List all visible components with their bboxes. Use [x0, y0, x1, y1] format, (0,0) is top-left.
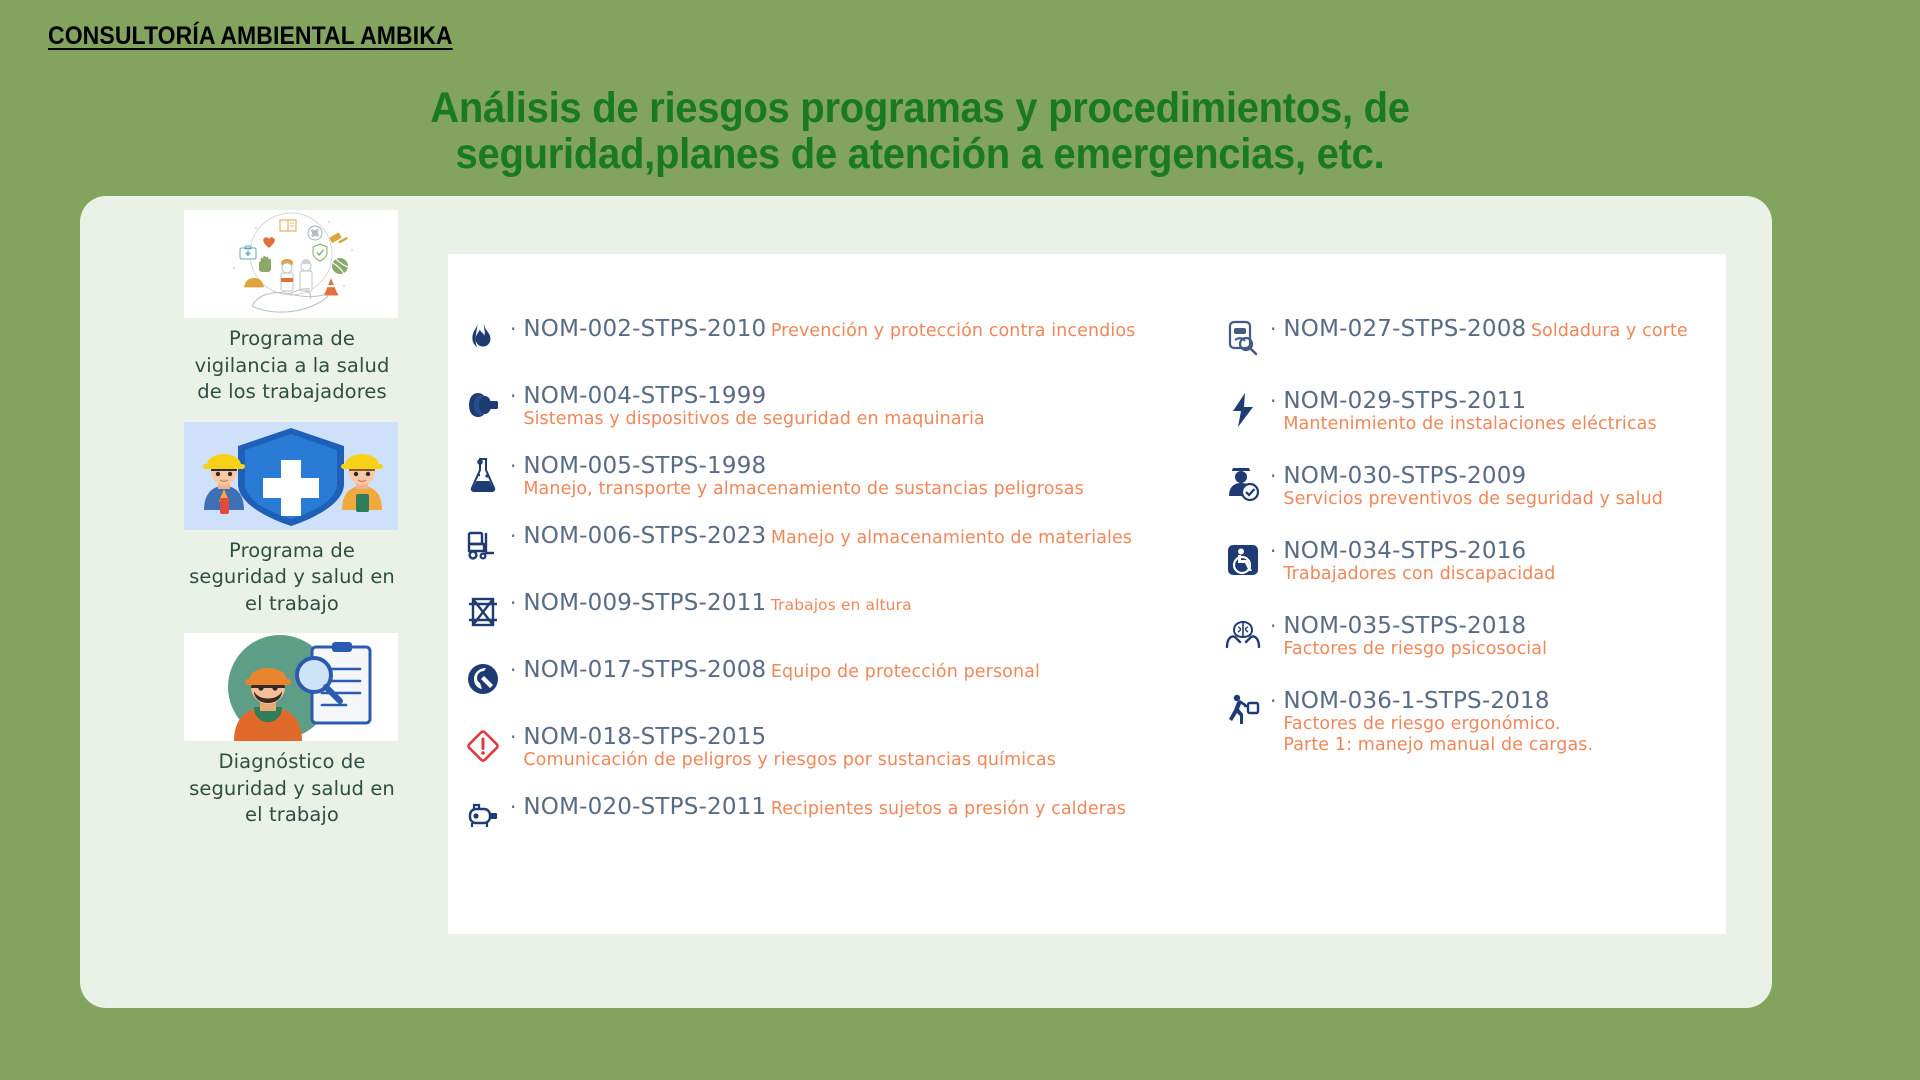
nom-text: NOM-029-STPS-2011 Mantenimiento de insta… — [1283, 388, 1726, 435]
workplace-safety-circle-illustration — [184, 210, 398, 318]
nom-item[interactable]: · NOM-027-STPS-2008 Soldadura y corte — [1220, 316, 1726, 360]
nom-right-column: · NOM-027-STPS-2008 Soldadura y corte · … — [1220, 254, 1726, 934]
nom-list-panel: · NOM-002-STPS-2010 Prevención y protecc… — [448, 254, 1726, 934]
nom-description: Sistemas y dispositivos de seguridad en … — [523, 409, 984, 429]
nom-code: NOM-017-STPS-2008 — [523, 657, 766, 683]
nom-code: NOM-036-1-STPS-2018 — [1283, 688, 1549, 714]
nom-item[interactable]: · NOM-036-1-STPS-2018 Factores de riesgo… — [1220, 688, 1726, 756]
nom-text: NOM-017-STPS-2008 Equipo de protección p… — [523, 657, 1040, 683]
sidebar-item-vigilancia-salud[interactable]: Programa de vigilancia a la salud de los… — [184, 210, 400, 406]
brain-hands-psychosocial-icon — [1220, 613, 1266, 657]
nom-description-line-2: Parte 1: manejo manual de cargas. — [1283, 735, 1593, 756]
nom-code: NOM-027-STPS-2008 — [1283, 316, 1526, 342]
nom-item[interactable]: · NOM-004-STPS-1999 Sistemas y dispositi… — [460, 383, 1220, 430]
bullet-dot: · — [508, 724, 523, 748]
nom-left-column: · NOM-002-STPS-2010 Prevención y protecc… — [448, 254, 1220, 934]
bullet-dot: · — [1268, 316, 1283, 340]
nom-code: NOM-029-STPS-2011 — [1283, 388, 1526, 414]
nom-description: Prevención y protección contra incendios — [771, 321, 1136, 341]
bullet-dot: · — [508, 383, 523, 407]
nom-description: Trabajadores con discapacidad — [1283, 564, 1555, 584]
nom-item[interactable]: · NOM-030-STPS-2009 Servicios preventivo… — [1220, 463, 1726, 510]
page-title-line-2: seguridad,planes de atención a emergenci… — [306, 132, 1534, 178]
content-card: Programa de vigilancia a la salud de los… — [80, 196, 1772, 1008]
nom-item[interactable]: · NOM-017-STPS-2008 Equipo de protección… — [460, 657, 1220, 701]
nom-description: Soldadura y corte — [1531, 321, 1688, 341]
nom-text: NOM-009-STPS-2011 Trabajos en altura — [523, 590, 911, 616]
manual-lifting-ergonomics-icon — [1220, 688, 1266, 732]
nom-description: Trabajos en altura — [771, 596, 912, 614]
pressure-vessel-boiler-icon — [460, 794, 506, 838]
nom-item[interactable]: · NOM-020-STPS-2011 Recipientes sujetos … — [460, 794, 1220, 838]
bullet-dot: · — [1268, 388, 1283, 412]
nom-description: Recipientes sujetos a presión y calderas — [771, 799, 1126, 819]
bullet-dot: · — [508, 657, 523, 681]
worker-check-badge-icon — [1220, 463, 1266, 507]
nom-text: NOM-027-STPS-2008 Soldadura y corte — [1283, 316, 1687, 342]
nom-description: Comunicación de peligros y riesgos por s… — [523, 750, 1056, 770]
nom-code: NOM-006-STPS-2023 — [523, 523, 766, 549]
nom-code: NOM-009-STPS-2011 — [523, 590, 766, 616]
nom-description-line-1: Factores de riesgo ergonómico. — [1283, 714, 1593, 735]
sidebar: Programa de vigilancia a la salud de los… — [184, 210, 400, 845]
lightning-bolt-icon — [1220, 388, 1266, 432]
nom-text: NOM-035-STPS-2018 Factores de riesgo psi… — [1283, 613, 1726, 660]
nom-code: NOM-018-STPS-2015 — [523, 724, 766, 750]
forklift-icon — [460, 523, 506, 567]
nom-item[interactable]: · NOM-035-STPS-2018 Factores de riesgo p… — [1220, 613, 1726, 660]
nom-text: NOM-020-STPS-2011 Recipientes sujetos a … — [523, 794, 1126, 820]
bullet-dot: · — [1268, 538, 1283, 562]
bullet-dot: · — [1268, 463, 1283, 487]
machinery-guard-icon — [460, 383, 506, 427]
sidebar-item-label: Diagnóstico de seguridad y salud en el t… — [184, 749, 400, 829]
nom-code: NOM-002-STPS-2010 — [523, 316, 766, 342]
nom-item[interactable]: · NOM-002-STPS-2010 Prevención y protecc… — [460, 316, 1220, 360]
nom-description-wrap: Factores de riesgo ergonómico. Parte 1: … — [1283, 714, 1593, 756]
page-title-line-1: Análisis de riesgos programas y procedim… — [306, 86, 1534, 132]
bullet-dot: · — [508, 453, 523, 477]
nom-code: NOM-005-STPS-1998 — [523, 453, 766, 479]
wheelchair-accessibility-icon — [1220, 538, 1266, 582]
nom-item[interactable]: · NOM-034-STPS-2016 Trabajadores con dis… — [1220, 538, 1726, 585]
nom-text: NOM-036-1-STPS-2018 Factores de riesgo e… — [1283, 688, 1593, 756]
nom-code: NOM-035-STPS-2018 — [1283, 613, 1526, 639]
nom-text: NOM-005-STPS-1998 Manejo, transporte y a… — [523, 453, 1220, 500]
sidebar-item-label: Programa de vigilancia a la salud de los… — [184, 326, 400, 406]
bullet-dot: · — [508, 316, 523, 340]
nom-description: Equipo de protección personal — [771, 662, 1040, 682]
bullet-dot: · — [508, 590, 523, 614]
nom-code: NOM-004-STPS-1999 — [523, 383, 766, 409]
inspector-magnifier-checklist-illustration — [184, 633, 398, 741]
nom-text: NOM-018-STPS-2015 Comunicación de peligr… — [523, 724, 1220, 771]
chemical-flask-icon — [460, 453, 506, 497]
respirator-ppe-icon — [460, 657, 506, 701]
nom-text: NOM-034-STPS-2016 Trabajadores con disca… — [1283, 538, 1726, 585]
hazard-exclamation-diamond-icon — [460, 724, 506, 768]
brand-title: CONSULTORÍA AMBIENTAL AMBIKA — [48, 22, 453, 51]
nom-description: Servicios preventivos de seguridad y sal… — [1283, 489, 1663, 509]
sidebar-item-label: Programa de seguridad y salud en el trab… — [184, 538, 400, 618]
nom-text: NOM-006-STPS-2023 Manejo y almacenamient… — [523, 523, 1132, 549]
flame-icon — [460, 316, 506, 360]
nom-text: NOM-002-STPS-2010 Prevención y protecció… — [523, 316, 1135, 342]
nom-code: NOM-034-STPS-2016 — [1283, 538, 1526, 564]
bullet-dot: · — [1268, 688, 1283, 712]
nom-code: NOM-030-STPS-2009 — [1283, 463, 1526, 489]
nom-code: NOM-020-STPS-2011 — [523, 794, 766, 820]
nom-description: Manejo y almacenamiento de materiales — [771, 528, 1132, 548]
nom-description: Manejo, transporte y almacenamiento de s… — [523, 479, 1083, 499]
scaffold-tower-icon — [460, 590, 506, 634]
nom-item[interactable]: · NOM-006-STPS-2023 Manejo y almacenamie… — [460, 523, 1220, 567]
welding-helmet-icon — [1220, 316, 1266, 360]
bullet-dot: · — [508, 523, 523, 547]
page-title: Análisis de riesgos programas y procedim… — [306, 86, 1534, 177]
nom-text: NOM-004-STPS-1999 Sistemas y dispositivo… — [523, 383, 1220, 430]
nom-item[interactable]: · NOM-009-STPS-2011 Trabajos en altura — [460, 590, 1220, 634]
sidebar-item-seguridad-salud[interactable]: Programa de seguridad y salud en el trab… — [184, 422, 400, 618]
nom-item[interactable]: · NOM-029-STPS-2011 Mantenimiento de ins… — [1220, 388, 1726, 435]
nom-description: Factores de riesgo psicosocial — [1283, 639, 1547, 659]
nom-text: NOM-030-STPS-2009 Servicios preventivos … — [1283, 463, 1726, 510]
nom-description: Mantenimiento de instalaciones eléctrica… — [1283, 414, 1656, 434]
bullet-dot: · — [508, 794, 523, 818]
nom-item[interactable]: · NOM-005-STPS-1998 Manejo, transporte y… — [460, 453, 1220, 500]
nom-item[interactable]: · NOM-018-STPS-2015 Comunicación de peli… — [460, 724, 1220, 771]
sidebar-item-diagnostico[interactable]: Diagnóstico de seguridad y salud en el t… — [184, 633, 400, 829]
bullet-dot: · — [1268, 613, 1283, 637]
two-workers-shield-cross-illustration — [184, 422, 398, 530]
